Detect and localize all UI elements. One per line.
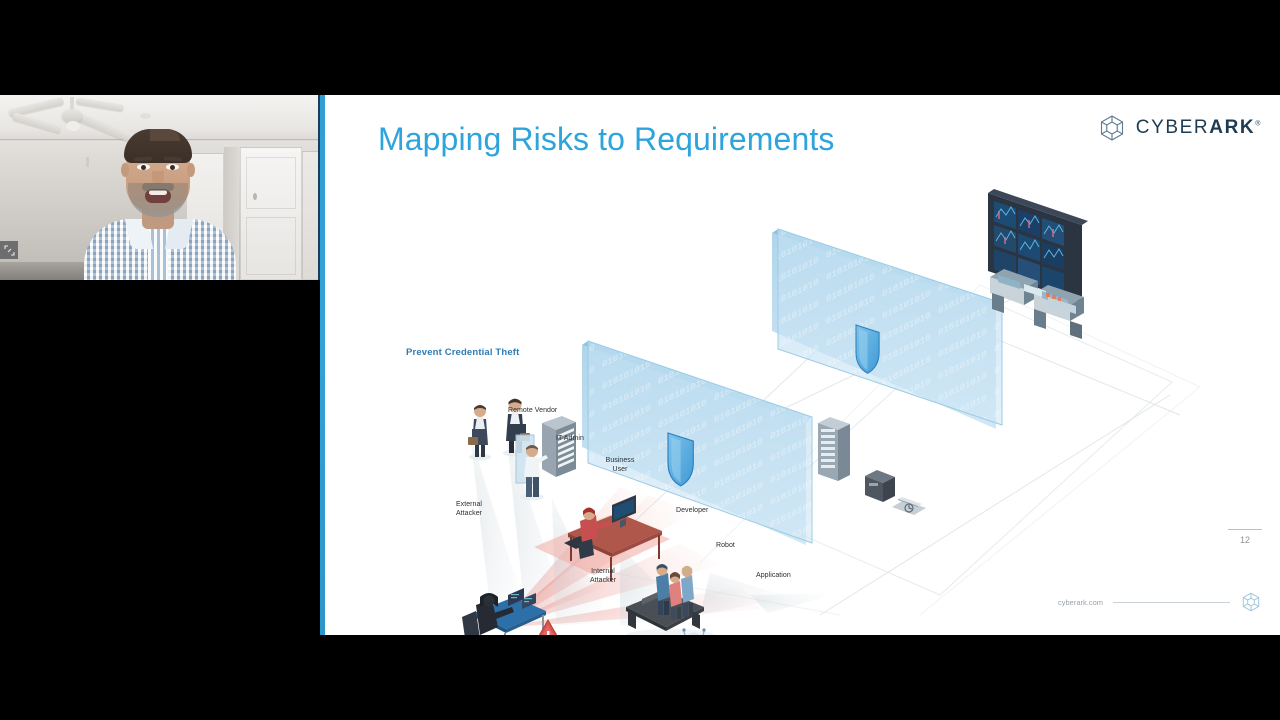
actor-label-application: Application: [756, 572, 791, 581]
shield-icon: [856, 325, 879, 373]
isometric-diagram: 010101010: [320, 95, 1280, 635]
actor-label-external-attacker: ExternalAttacker: [444, 501, 494, 519]
door-knob: [253, 193, 257, 200]
presentation-slide: Mapping Risks to Requirements CYBERARK® …: [320, 95, 1280, 635]
actor-label-it-admin: IT Admin: [556, 435, 584, 444]
actor-label-internal-attacker: InternalAttacker: [578, 568, 628, 586]
wall-switch-plate: [86, 157, 89, 167]
expand-icon[interactable]: [0, 241, 18, 259]
presenter-moustache: [142, 183, 174, 191]
server-box-icon: [865, 470, 895, 502]
door-panel: [246, 157, 296, 209]
firewall-wall-back: [772, 229, 1002, 429]
presenter-pupil: [141, 165, 146, 170]
presenter-shirt-placket: [148, 225, 168, 280]
actor-label-remote-vendor: Remote Vendor: [508, 407, 557, 416]
presenter-pupil: [170, 165, 175, 170]
ceiling-fan-light: [66, 121, 80, 131]
presenter-ear: [121, 163, 129, 177]
ceiling-vent: [140, 113, 151, 119]
actor-label-robot: Robot: [716, 542, 735, 551]
monitor-wall-icon: [988, 189, 1088, 339]
ceiling-fan-rod: [70, 97, 74, 109]
door-panel: [246, 217, 296, 275]
laptop-icon: [892, 497, 926, 515]
presenter-ear: [187, 163, 195, 177]
actor-label-developer: Developer: [676, 507, 708, 516]
presenter-hair-part: [150, 129, 180, 141]
actor-label-business-user: BusinessUser: [596, 457, 644, 475]
webcam-video-panel[interactable]: David Adamczyk: [0, 95, 320, 280]
screen-root: David Adamczyk Mapping Risks to Requirem…: [0, 0, 1280, 720]
shield-icon: [668, 433, 693, 486]
business-people-icon: [468, 405, 491, 460]
server-rack-icon: [818, 417, 850, 481]
